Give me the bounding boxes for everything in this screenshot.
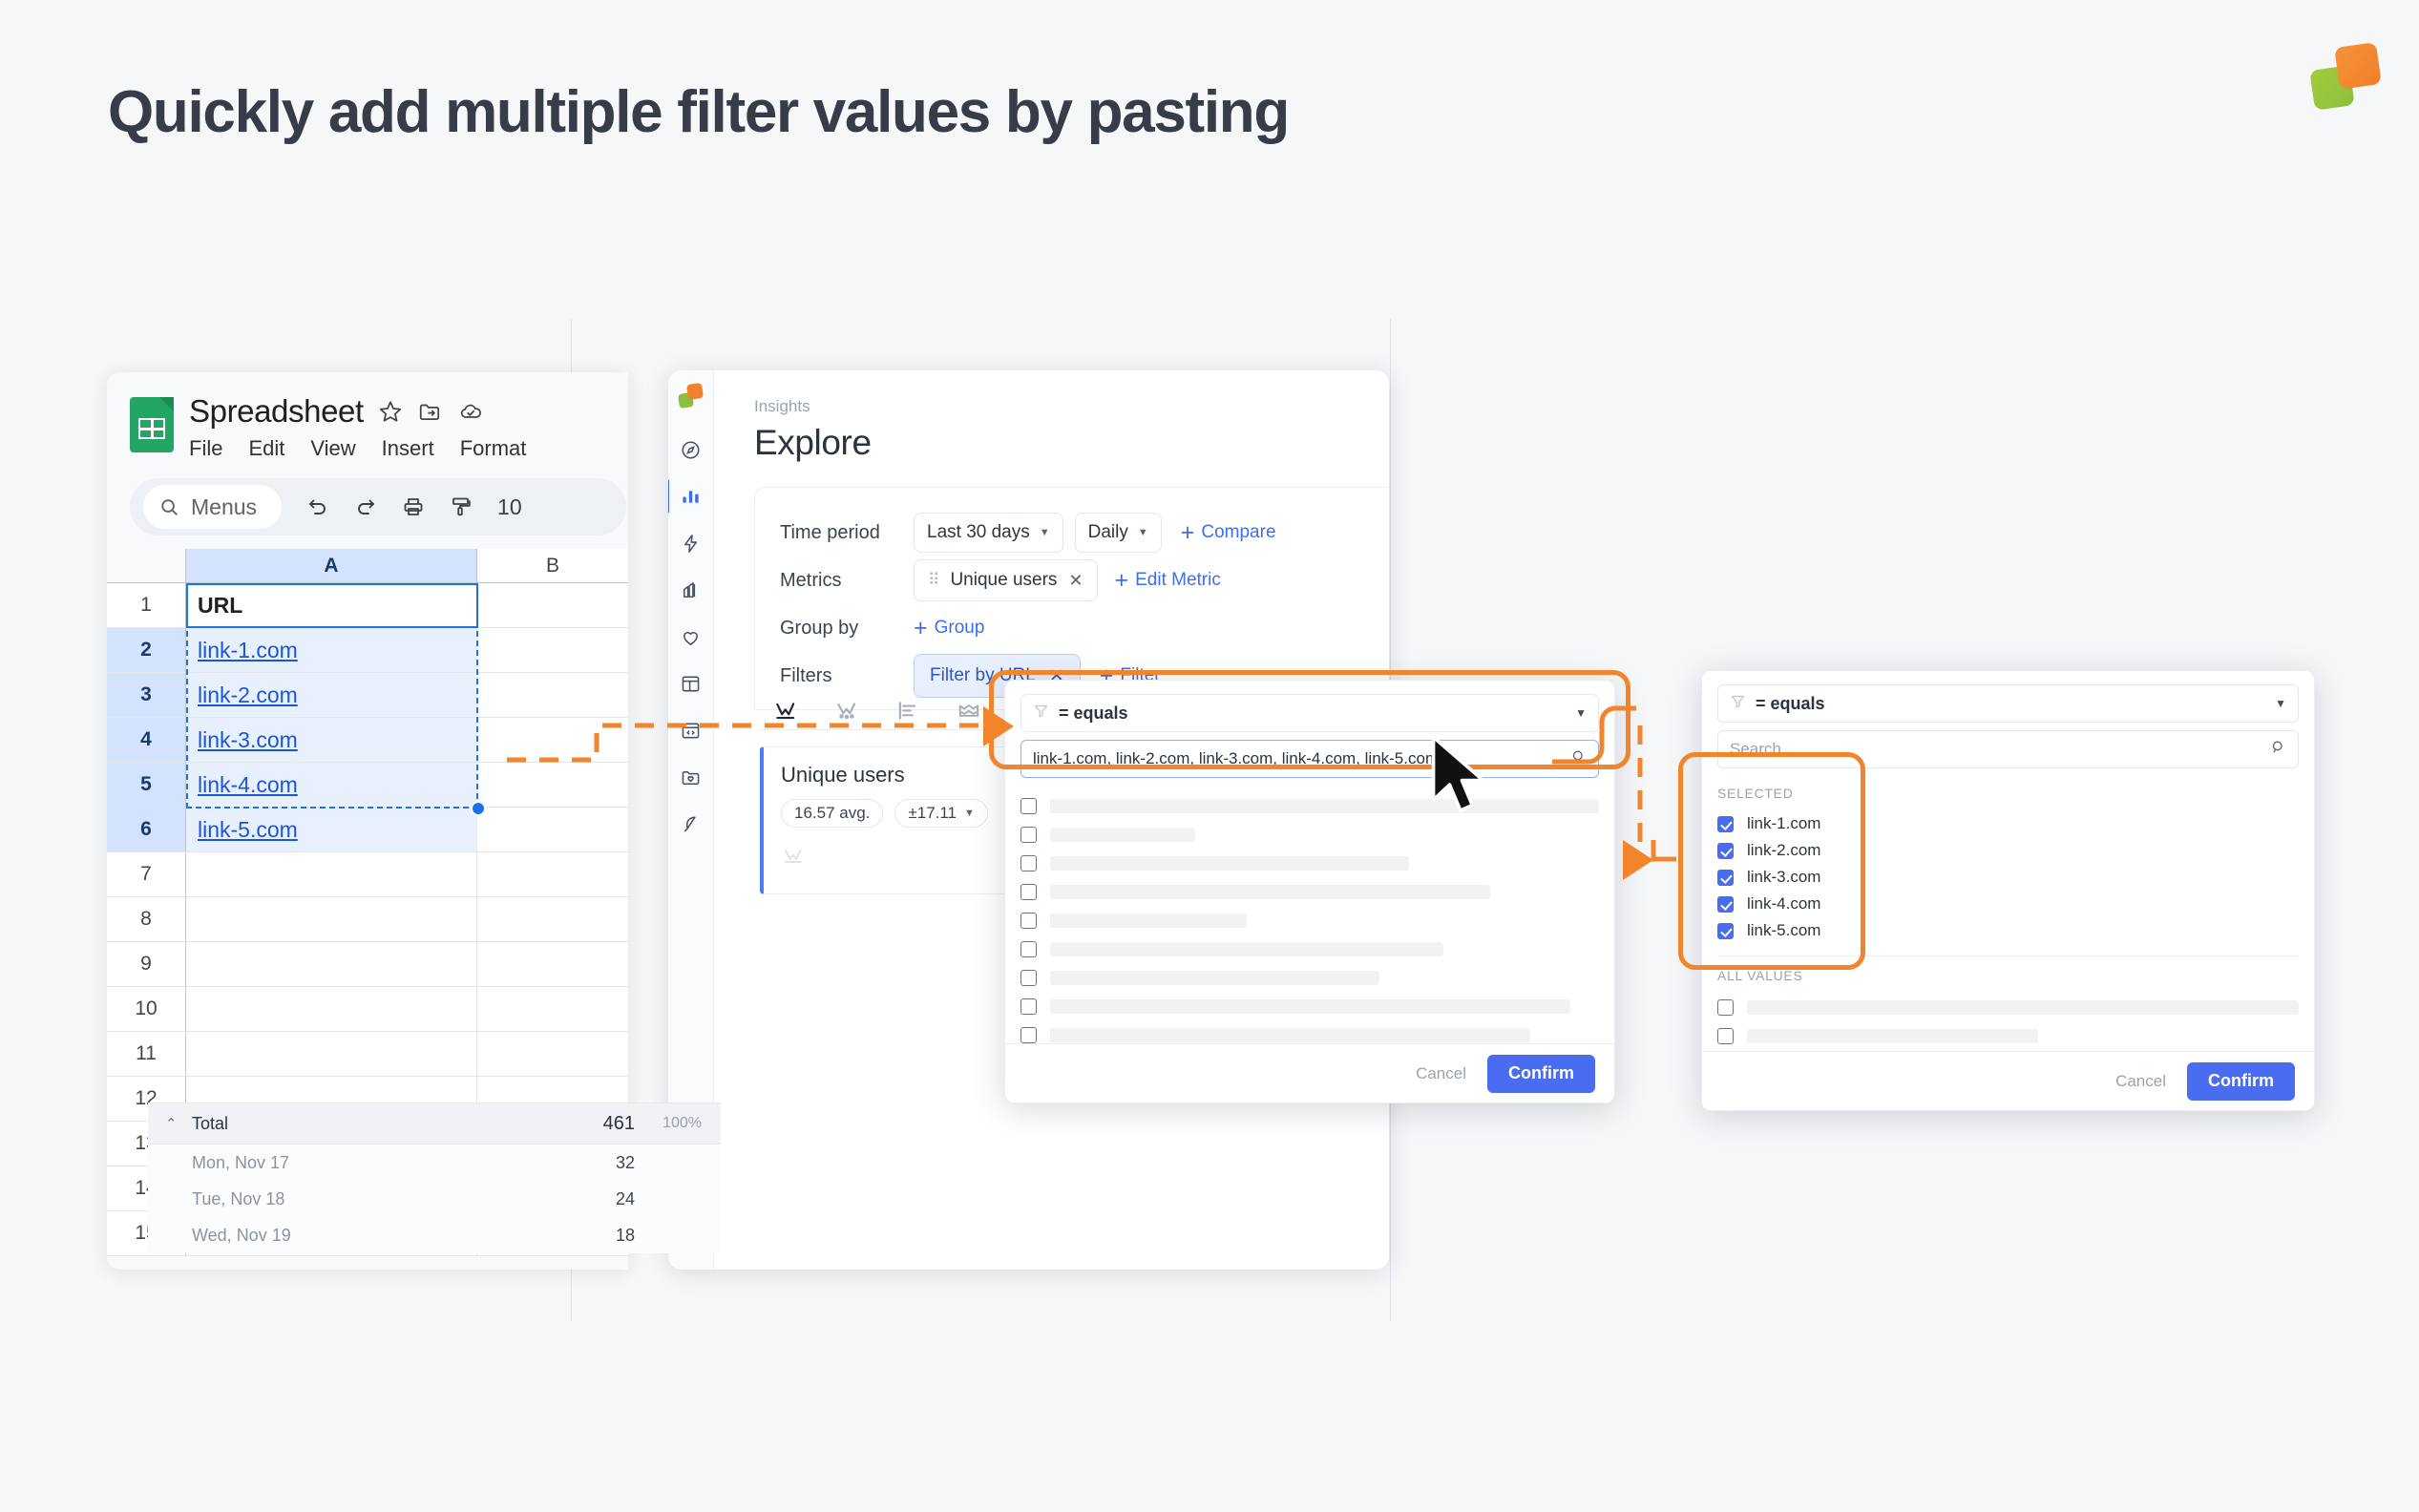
cancel-button[interactable]: Cancel <box>2115 1072 2166 1091</box>
totals-header-row[interactable]: ⌃ Total 461 100% <box>148 1102 721 1144</box>
option-checkbox[interactable] <box>1020 855 1037 871</box>
filter-option-row[interactable] <box>1020 820 1599 849</box>
chevron-down-icon: ▼ <box>2275 697 2286 710</box>
print-icon[interactable] <box>402 495 425 518</box>
cell-a[interactable] <box>186 987 477 1032</box>
spreadsheet-row[interactable]: 11 <box>107 1032 628 1077</box>
spreadsheet-row[interactable]: 7 <box>107 852 628 897</box>
plus-icon: + <box>1181 523 1195 542</box>
collapse-caret-icon[interactable]: ⌃ <box>165 1115 192 1132</box>
cell-a[interactable]: link-5.com <box>186 808 477 852</box>
option-placeholder <box>1050 1028 1530 1042</box>
filter-option-list[interactable] <box>1005 791 1614 1078</box>
column-header-a[interactable]: A <box>186 549 477 583</box>
drag-handle-icon[interactable]: ⠿ <box>928 571 938 590</box>
filter-option-row[interactable] <box>1020 877 1599 906</box>
option-checkbox-checked[interactable] <box>1717 896 1734 913</box>
option-placeholder <box>1050 856 1409 871</box>
grid-column-headers: A B <box>107 549 628 583</box>
filter-option-row[interactable] <box>1020 992 1599 1020</box>
time-period-select[interactable]: Last 30 days ▼ <box>914 513 1063 553</box>
cell-a[interactable] <box>186 942 477 987</box>
line-chart-icon[interactable] <box>773 699 798 724</box>
filter-value-input[interactable]: link-1.com, link-2.com, link-3.com, link… <box>1020 740 1599 778</box>
totals-row-label: Tue, Nov 18 <box>192 1189 530 1209</box>
spreadsheet-row[interactable]: 10 <box>107 987 628 1032</box>
zoom-level[interactable]: 10 <box>497 494 522 520</box>
cell-link[interactable]: link-2.com <box>198 682 298 708</box>
metric-chip-label: Unique users <box>950 570 1057 591</box>
filter-option-row[interactable] <box>1020 934 1599 963</box>
sidebar-item-compass[interactable] <box>680 439 702 461</box>
row-number[interactable]: 3 <box>107 673 186 718</box>
compare-label: Compare <box>1201 522 1275 543</box>
cell-a[interactable] <box>186 852 477 897</box>
cell-b[interactable] <box>477 628 628 673</box>
label-group-by: Group by <box>780 618 914 640</box>
cell-b[interactable] <box>477 852 628 897</box>
totals-row-value: 18 <box>530 1226 635 1246</box>
app-logo-icon <box>679 384 704 409</box>
funnel-icon <box>1033 703 1049 724</box>
menu-insert[interactable]: Insert <box>382 436 434 461</box>
label-metrics: Metrics <box>780 570 914 592</box>
plus-icon: + <box>914 619 928 638</box>
option-checkbox-checked[interactable] <box>1717 923 1734 939</box>
cell-link[interactable]: link-3.com <box>198 727 298 753</box>
cell-b[interactable] <box>477 583 628 628</box>
selected-value-row[interactable]: link-4.com <box>1717 891 2299 917</box>
selected-value-row[interactable]: link-3.com <box>1717 864 2299 891</box>
selected-value-label: link-1.com <box>1747 814 1820 833</box>
add-group-label: Group <box>935 618 985 639</box>
cell-b[interactable] <box>477 987 628 1032</box>
page-title: Quickly add multiple filter values by pa… <box>108 78 1289 146</box>
totals-percent: 100% <box>635 1115 721 1132</box>
spreadsheet-app-icon <box>130 397 174 452</box>
option-checkbox[interactable] <box>1020 998 1037 1015</box>
selection-fill-handle[interactable] <box>471 801 486 816</box>
selected-value-label: link-2.com <box>1747 841 1820 860</box>
arrow-head-2 <box>1623 840 1653 880</box>
grid-corner[interactable] <box>107 549 186 583</box>
all-values-list[interactable] <box>1702 993 2314 1050</box>
menu-format[interactable]: Format <box>460 436 527 461</box>
cell-a[interactable]: link-3.com <box>186 718 477 763</box>
option-checkbox-checked[interactable] <box>1717 870 1734 886</box>
cell-a[interactable]: URL <box>186 583 477 628</box>
spreadsheet-row[interactable]: 1URL <box>107 583 628 628</box>
cell-a[interactable] <box>186 897 477 942</box>
operator-value-result: = equals <box>1756 694 2265 714</box>
sidebar-item-folder-heart[interactable] <box>680 766 702 788</box>
option-checkbox[interactable] <box>1717 999 1734 1016</box>
option-placeholder <box>1050 999 1570 1014</box>
label-time-period: Time period <box>780 522 914 544</box>
search-icon <box>2270 739 2286 760</box>
time-period-value: Last 30 days <box>927 522 1030 543</box>
granularity-value: Daily <box>1088 522 1128 543</box>
row-number[interactable]: 10 <box>107 987 186 1032</box>
cell-link[interactable]: link-5.com <box>198 817 298 843</box>
row-number[interactable]: 11 <box>107 1032 186 1077</box>
search-icon <box>158 496 179 517</box>
option-checkbox[interactable] <box>1020 970 1037 986</box>
row-time-period: Time period Last 30 days ▼ Daily ▼ + Com… <box>755 509 1389 556</box>
option-placeholder <box>1747 1029 2038 1043</box>
row-number[interactable]: 5 <box>107 763 186 808</box>
operator-value-paste: = equals <box>1059 703 1566 724</box>
selected-value-label: link-3.com <box>1747 868 1820 887</box>
query-builder-card: Time period Last 30 days ▼ Daily ▼ + Com… <box>754 487 1389 710</box>
logo-mark-icon <box>2312 43 2383 114</box>
selected-value-row[interactable]: link-1.com <box>1717 810 2299 837</box>
confirm-button[interactable]: Confirm <box>2187 1062 2295 1101</box>
section-divider <box>1717 955 2299 956</box>
sidebar-item-funnel-steps[interactable] <box>680 579 702 601</box>
compare-button[interactable]: + Compare <box>1181 522 1276 543</box>
row-number[interactable]: 7 <box>107 852 186 897</box>
search-icon <box>1570 748 1587 769</box>
all-value-row[interactable] <box>1717 993 2299 1021</box>
cell-b[interactable] <box>477 1032 628 1077</box>
selected-value-label: link-4.com <box>1747 894 1820 913</box>
row-number[interactable]: 9 <box>107 942 186 987</box>
option-placeholder <box>1050 942 1443 956</box>
cell-b[interactable] <box>477 763 628 808</box>
all-values-section-label: ALL VALUES <box>1717 968 2314 983</box>
row-number[interactable]: 1 <box>107 583 186 628</box>
chevron-down-icon: ▼ <box>1040 527 1050 538</box>
cell-a[interactable]: link-2.com <box>186 673 477 718</box>
option-placeholder <box>1050 828 1195 842</box>
sidebar-item-feather[interactable] <box>680 813 702 835</box>
totals-label: Total <box>192 1114 530 1134</box>
option-checkbox[interactable] <box>1020 913 1037 929</box>
sidebar-item-insights[interactable] <box>680 486 702 508</box>
result-search-input[interactable]: Search <box>1717 730 2299 768</box>
sidebar-item-retention[interactable] <box>680 626 702 648</box>
row-number[interactable]: 4 <box>107 718 186 763</box>
page-root: Quickly add multiple filter values by pa… <box>0 0 2419 1512</box>
totals-data-row[interactable]: Wed, Nov 1918 <box>148 1217 721 1253</box>
scatter-chart-icon[interactable] <box>834 699 859 724</box>
totals-data-row[interactable]: Mon, Nov 1732 <box>148 1144 721 1181</box>
filter-dropdown-result: = equals ▼ Search SELECTED link-1.comlin… <box>1701 670 2315 1111</box>
option-checkbox[interactable] <box>1717 1028 1734 1044</box>
star-icon[interactable] <box>378 399 403 424</box>
result-search-placeholder: Search <box>1730 740 2262 759</box>
edit-metric-button[interactable]: + Edit Metric <box>1115 570 1221 591</box>
spreadsheet-row[interactable]: 2link-1.com <box>107 628 628 673</box>
cloud-saved-icon[interactable] <box>457 399 484 424</box>
spreadsheet-title[interactable]: Spreadsheet <box>189 393 364 430</box>
selected-value-label: link-5.com <box>1747 921 1820 940</box>
totals-value: 461 <box>530 1113 635 1135</box>
filter-option-row[interactable] <box>1020 791 1599 820</box>
area-chart-icon[interactable] <box>957 699 981 724</box>
option-placeholder <box>1050 799 1599 813</box>
row-number[interactable]: 2 <box>107 628 186 673</box>
page-heading: Explore <box>754 423 1389 463</box>
cancel-button[interactable]: Cancel <box>1416 1064 1466 1083</box>
chevron-down-icon: ▼ <box>1138 527 1148 538</box>
spreadsheet-toolbar: Menus 10 <box>130 478 626 535</box>
option-placeholder <box>1050 885 1490 899</box>
row-group-by: Group by + Group <box>755 604 1389 652</box>
selected-value-row[interactable]: link-5.com <box>1717 917 2299 944</box>
cell-a[interactable]: link-4.com <box>186 763 477 808</box>
selected-section-label: SELECTED <box>1717 786 2314 801</box>
option-checkbox[interactable] <box>1020 884 1037 900</box>
sidebar-item-bolt[interactable] <box>680 533 702 555</box>
filter-dropdown-paste: = equals ▼ link-1.com, link-2.com, link-… <box>1004 680 1615 1103</box>
mouse-pointer-icon <box>1426 735 1497 822</box>
all-value-row[interactable] <box>1717 1021 2299 1050</box>
metric-chip[interactable]: ⠿ Unique users ✕ <box>914 559 1098 601</box>
edit-metric-label: Edit Metric <box>1135 570 1221 591</box>
totals-row-label: Wed, Nov 19 <box>192 1226 530 1246</box>
totals-table: ⌃ Total 461 100% Mon, Nov 1732Tue, Nov 1… <box>148 1102 721 1253</box>
remove-metric-icon[interactable]: ✕ <box>1068 571 1083 591</box>
operator-select-paste[interactable]: = equals ▼ <box>1020 694 1599 732</box>
spreadsheet-row[interactable]: 6link-5.com <box>107 808 628 852</box>
menus-search-label: Menus <box>191 494 257 520</box>
spreadsheet-row[interactable]: 3link-2.com <box>107 673 628 718</box>
sidebar-item-code-window[interactable] <box>680 720 702 742</box>
granularity-select[interactable]: Daily ▼ <box>1075 513 1162 553</box>
column-header-b[interactable]: B <box>477 549 628 583</box>
chevron-down-icon: ▼ <box>1575 706 1587 720</box>
totals-row-label: Mon, Nov 17 <box>192 1153 530 1173</box>
plus-icon: + <box>1115 571 1129 590</box>
totals-row-value: 24 <box>530 1189 635 1209</box>
cell-b[interactable] <box>477 673 628 718</box>
metric-average-pill: 16.57 avg. <box>781 799 883 828</box>
option-placeholder <box>1050 971 1379 985</box>
totals-row-value: 32 <box>530 1153 635 1173</box>
cell-link[interactable]: link-1.com <box>198 638 298 663</box>
option-checkbox[interactable] <box>1020 827 1037 843</box>
cell-b[interactable] <box>477 808 628 852</box>
filter-option-row[interactable] <box>1020 963 1599 992</box>
cell-a[interactable]: link-1.com <box>186 628 477 673</box>
selected-value-row[interactable]: link-2.com <box>1717 837 2299 864</box>
spreadsheet-row[interactable]: 9 <box>107 942 628 987</box>
filter-option-row[interactable] <box>1020 906 1599 934</box>
operator-select-result[interactable]: = equals ▼ <box>1717 684 2299 723</box>
option-checkbox-checked[interactable] <box>1717 816 1734 832</box>
bar-chart-icon[interactable] <box>895 699 920 724</box>
cell-link[interactable]: link-4.com <box>198 772 298 798</box>
cell-a[interactable] <box>186 1032 477 1077</box>
chevron-down-icon: ▼ <box>964 808 975 819</box>
paint-format-icon[interactable] <box>450 495 473 518</box>
row-number[interactable]: 6 <box>107 808 186 852</box>
metric-deviation-value: ±17.11 <box>908 804 957 823</box>
undo-icon[interactable] <box>306 495 329 518</box>
option-checkbox-checked[interactable] <box>1717 843 1734 859</box>
menu-edit[interactable]: Edit <box>248 436 284 461</box>
sidebar-item-dashboard[interactable] <box>680 673 702 695</box>
option-placeholder <box>1050 913 1247 928</box>
spreadsheet-row[interactable]: 4link-3.com <box>107 718 628 763</box>
add-group-button[interactable]: + Group <box>914 618 984 639</box>
label-filters: Filters <box>780 665 914 687</box>
cell-b[interactable] <box>477 942 628 987</box>
result-popover-footer: Cancel Confirm <box>1702 1051 2314 1110</box>
cell-b[interactable] <box>477 897 628 942</box>
spreadsheet-row[interactable]: 8 <box>107 897 628 942</box>
metric-deviation-pill[interactable]: ±17.11 ▼ <box>894 799 988 828</box>
menus-search-input[interactable]: Menus <box>143 485 282 529</box>
menu-file[interactable]: File <box>189 436 222 461</box>
confirm-button[interactable]: Confirm <box>1487 1055 1595 1093</box>
spreadsheet-menubar: File Edit View Insert Format <box>189 436 526 461</box>
redo-icon[interactable] <box>354 495 377 518</box>
paste-popover-footer: Cancel Confirm <box>1005 1043 1614 1102</box>
filter-option-row[interactable] <box>1020 849 1599 877</box>
row-number[interactable]: 8 <box>107 897 186 942</box>
breadcrumb[interactable]: Insights <box>754 397 1389 416</box>
menu-view[interactable]: View <box>310 436 355 461</box>
option-checkbox[interactable] <box>1020 1027 1037 1043</box>
spreadsheet-header: Spreadsheet File Edit View Insert <box>107 372 628 461</box>
cell-b[interactable] <box>477 718 628 763</box>
spreadsheet-row[interactable]: 5link-4.com <box>107 763 628 808</box>
selected-values-list[interactable]: link-1.comlink-2.comlink-3.comlink-4.com… <box>1702 810 2314 944</box>
option-checkbox[interactable] <box>1020 941 1037 957</box>
option-checkbox[interactable] <box>1020 798 1037 814</box>
funnel-icon <box>1730 693 1746 714</box>
move-to-folder-icon[interactable] <box>417 399 443 424</box>
option-placeholder <box>1747 1000 2299 1015</box>
row-metrics: Metrics ⠿ Unique users ✕ + Edit Metric <box>755 556 1389 604</box>
totals-data-row[interactable]: Tue, Nov 1824 <box>148 1181 721 1217</box>
